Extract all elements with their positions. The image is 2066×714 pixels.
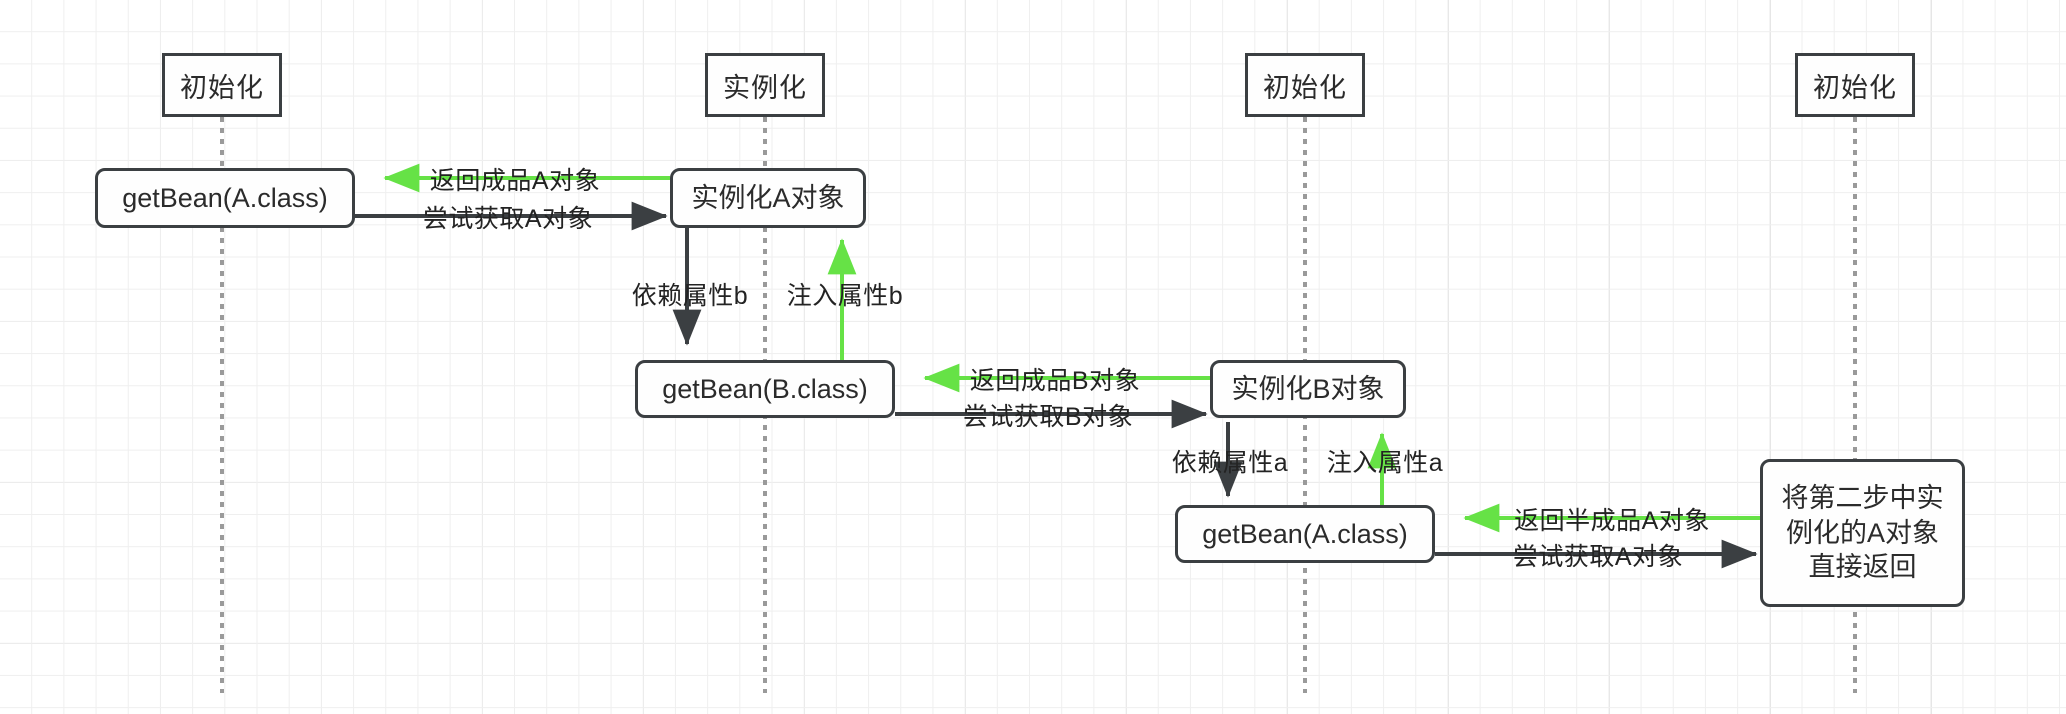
message-label-inject-a: 注入属性a	[1327, 443, 1443, 479]
message-text: 尝试获取B对象	[963, 403, 1133, 431]
lifeline-header-1[interactable]: 初始化	[162, 53, 282, 117]
diagram-canvas: 初始化 实例化 初始化 初始化	[0, 0, 2066, 714]
message-text: 尝试获取A对象	[1513, 543, 1683, 571]
action-box-instantiate-a[interactable]: 实例化A对象	[670, 168, 866, 228]
lifeline-header-3[interactable]: 初始化	[1245, 53, 1365, 117]
action-box-getbean-a[interactable]: getBean(A.class)	[95, 168, 355, 228]
action-box-return-step-two[interactable]: 将第二步中实 例化的A对象 直接返回	[1760, 459, 1965, 607]
action-box-instantiate-a-label: 实例化A对象	[691, 181, 844, 216]
message-label-return-finished-b: 返回成品B对象	[970, 361, 1140, 397]
message-label-return-finished-a: 返回成品A对象	[430, 161, 600, 197]
message-text: 注入属性b	[787, 282, 903, 310]
action-box-getbean-a-2-label: getBean(A.class)	[1202, 517, 1408, 552]
lifeline-header-1-label: 初始化	[180, 66, 264, 105]
action-box-getbean-a-label: getBean(A.class)	[122, 181, 328, 216]
message-label-try-get-a-2: 尝试获取A对象	[1513, 537, 1683, 573]
lifeline-header-2[interactable]: 实例化	[705, 53, 825, 117]
message-text: 尝试获取A对象	[423, 205, 593, 233]
message-text: 返回半成品A对象	[1514, 507, 1710, 535]
action-box-getbean-a-2[interactable]: getBean(A.class)	[1175, 505, 1435, 563]
message-text: 依赖属性b	[632, 282, 748, 310]
message-text: 注入属性a	[1327, 449, 1443, 477]
message-label-try-get-a: 尝试获取A对象	[423, 199, 593, 235]
action-box-instantiate-b[interactable]: 实例化B对象	[1210, 360, 1406, 418]
message-text: 返回成品A对象	[430, 167, 600, 195]
lifeline-header-4[interactable]: 初始化	[1795, 53, 1915, 117]
lifeline-header-4-label: 初始化	[1813, 66, 1897, 105]
action-box-return-step-two-label: 将第二步中实 例化的A对象 直接返回	[1782, 481, 1944, 585]
message-label-depends-b: 依赖属性b	[632, 276, 748, 312]
message-text: 依赖属性a	[1172, 449, 1288, 477]
action-box-getbean-b[interactable]: getBean(B.class)	[635, 360, 895, 418]
lifeline-header-2-label: 实例化	[723, 66, 807, 105]
message-label-return-halfbaked-a: 返回半成品A对象	[1514, 501, 1710, 537]
action-box-instantiate-b-label: 实例化B对象	[1231, 372, 1384, 407]
action-box-getbean-b-label: getBean(B.class)	[662, 372, 868, 407]
arrow-layer	[0, 0, 2066, 714]
message-label-inject-b: 注入属性b	[787, 276, 903, 312]
message-text: 返回成品B对象	[970, 367, 1140, 395]
message-label-try-get-b: 尝试获取B对象	[963, 397, 1133, 433]
message-label-depends-a: 依赖属性a	[1172, 443, 1288, 479]
lifeline-header-3-label: 初始化	[1263, 66, 1347, 105]
